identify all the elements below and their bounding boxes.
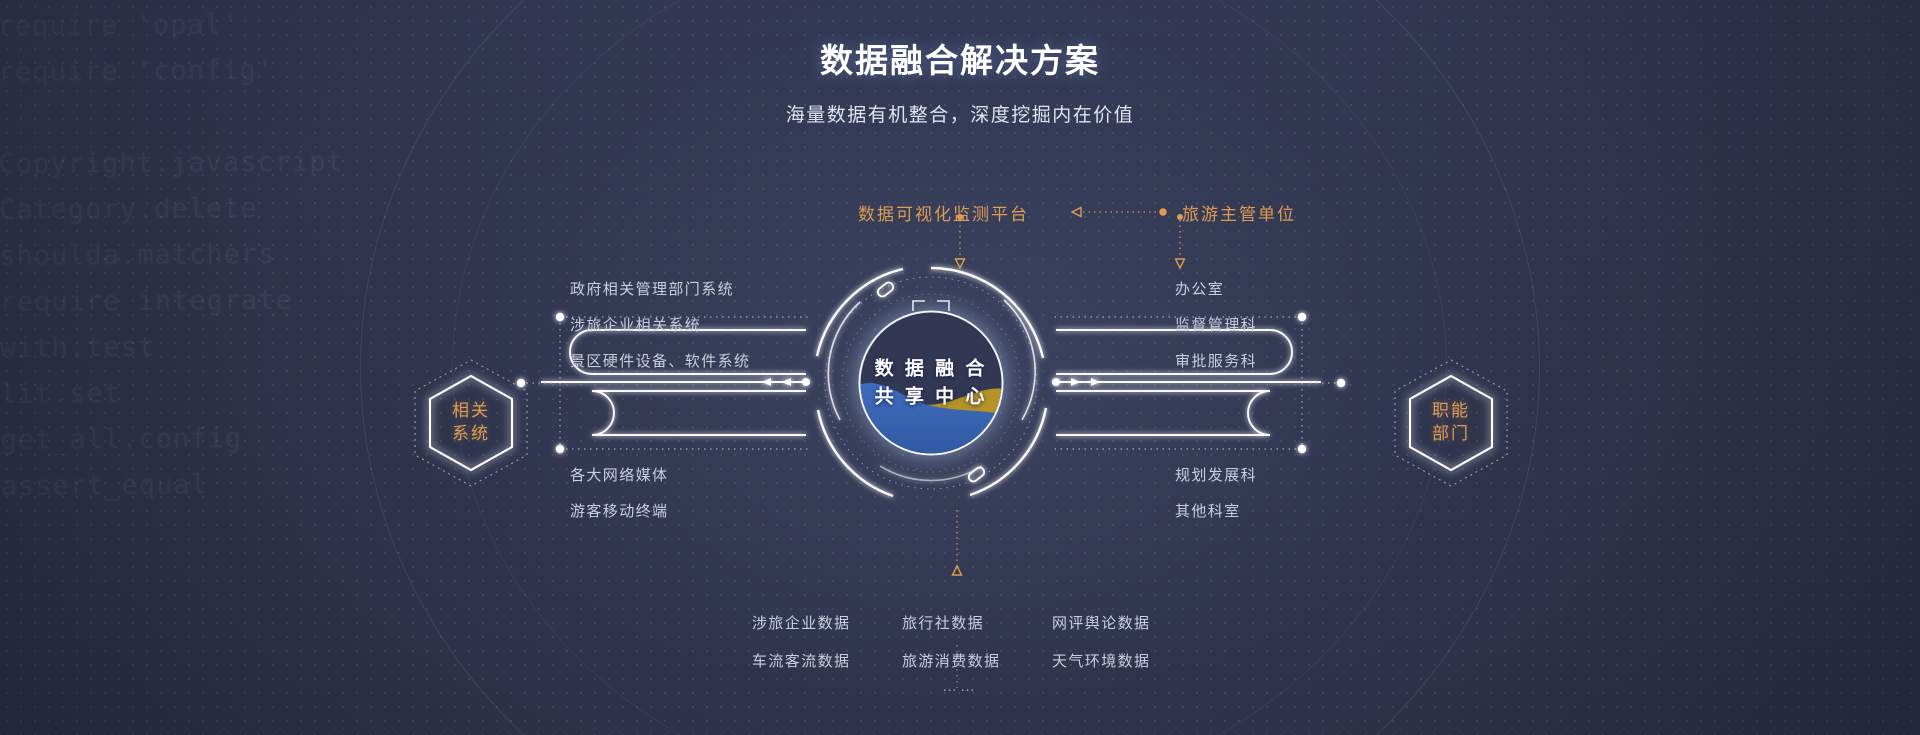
page-title: 数据融合解决方案 bbox=[0, 34, 1920, 82]
center-sphere: 数 据 融 合 共 享 中 心 bbox=[859, 311, 1004, 456]
right-label-1: 监督管理科 bbox=[1175, 314, 1257, 335]
left-hexagon[interactable]: 相关 系统 bbox=[410, 357, 532, 489]
right-label-0: 办公室 bbox=[1175, 278, 1224, 299]
page-subtitle: 海量数据有机整合，深度挖掘内在价值 bbox=[0, 100, 1920, 127]
left-label-1: 涉旅企业相关系统 bbox=[570, 314, 701, 335]
bottom-label-r0c2: 网评舆论数据 bbox=[1052, 612, 1150, 633]
bottom-label-r0c0: 涉旅企业数据 bbox=[752, 612, 850, 633]
right-hexagon[interactable]: 职能 部门 bbox=[1390, 357, 1512, 489]
node-visualization-platform[interactable]: 数据可视化监测平台 bbox=[858, 200, 1029, 225]
right-hexagon-line-1: 职能 bbox=[1432, 400, 1470, 423]
right-hexagon-line-2: 部门 bbox=[1432, 423, 1470, 446]
left-label-0: 政府相关管理部门系统 bbox=[570, 278, 734, 299]
center-sphere-text: 数 据 融 合 共 享 中 心 bbox=[861, 313, 1002, 454]
left-hexagon-line-2: 系统 bbox=[452, 423, 490, 446]
left-label-3: 各大网络媒体 bbox=[570, 464, 668, 485]
center-line-1: 数 据 融 合 bbox=[875, 355, 988, 383]
bottom-label-r0c1: 旅行社数据 bbox=[902, 612, 984, 633]
right-label-3: 规划发展科 bbox=[1175, 464, 1257, 485]
center-line-2: 共 享 中 心 bbox=[875, 383, 988, 411]
node-tourism-authority[interactable]: 旅游主管单位 bbox=[1182, 200, 1296, 225]
right-label-4: 其他科室 bbox=[1175, 500, 1241, 521]
right-label-2: 审批服务科 bbox=[1175, 350, 1257, 371]
infographic-canvas: require 'opal' require 'config' Copyrigh… bbox=[0, 0, 1920, 735]
bottom-label-r1c2: 天气环境数据 bbox=[1052, 650, 1150, 671]
header: 数据融合解决方案 海量数据有机整合，深度挖掘内在价值 bbox=[0, 34, 1920, 127]
left-label-2: 景区硬件设备、软件系统 bbox=[570, 350, 750, 371]
left-hexagon-text: 相关 系统 bbox=[410, 357, 532, 489]
bottom-label-r1c0: 车流客流数据 bbox=[752, 650, 850, 671]
bottom-label-r1c1: 旅游消费数据 bbox=[902, 650, 1000, 671]
right-hexagon-text: 职能 部门 bbox=[1390, 357, 1512, 489]
left-label-4: 游客移动终端 bbox=[570, 500, 668, 521]
left-hexagon-line-1: 相关 bbox=[452, 400, 490, 423]
